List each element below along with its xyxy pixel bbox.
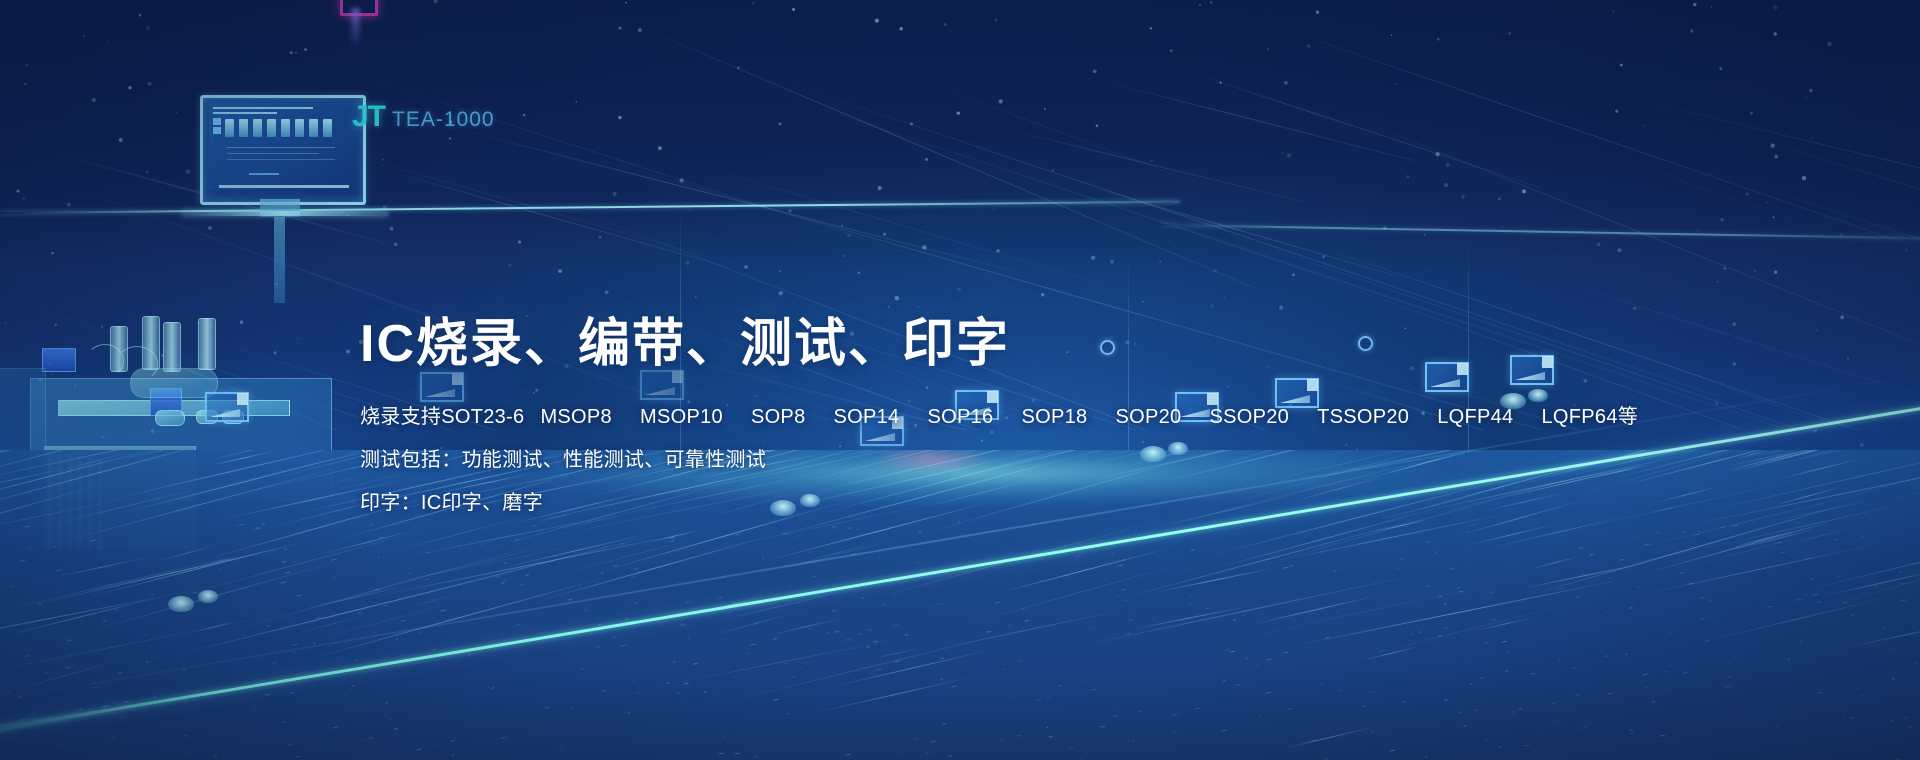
ic-service-banner: JT TEA-1000: [0, 0, 1920, 760]
package-label: MSOP10: [640, 407, 723, 427]
page-title: IC烧录、编带、测试、印字: [360, 316, 1660, 373]
package-list: 烧录支持SOT23-6 MSOP8MSOP10SOP8SOP14SOP16SOP…: [360, 407, 1638, 427]
package-label: TSSOP20: [1317, 407, 1409, 427]
package-label: LQFP64等: [1542, 407, 1639, 427]
package-label: MSOP8: [540, 407, 612, 427]
package-label: SOP16: [927, 407, 993, 427]
package-label: SSOP20: [1209, 407, 1289, 427]
package-label: SOP14: [834, 407, 900, 427]
package-label: LQFP44: [1437, 407, 1513, 427]
test-scope-line: 测试包括：功能测试、性能测试、可靠性测试: [360, 450, 1660, 470]
burn-support-label: 烧录支持SOT23-6: [360, 407, 524, 427]
package-label: SOP20: [1115, 407, 1181, 427]
marking-scope-line: 印字：IC印字、磨字: [360, 493, 1660, 513]
package-label: SOP18: [1021, 407, 1087, 427]
banner-copy: IC烧录、编带、测试、印字 烧录支持SOT23-6 MSOP8MSOP10SOP…: [360, 316, 1660, 536]
package-label: SOP8: [751, 407, 806, 427]
burn-support-line: 烧录支持SOT23-6 MSOP8MSOP10SOP8SOP14SOP16SOP…: [360, 407, 1660, 427]
